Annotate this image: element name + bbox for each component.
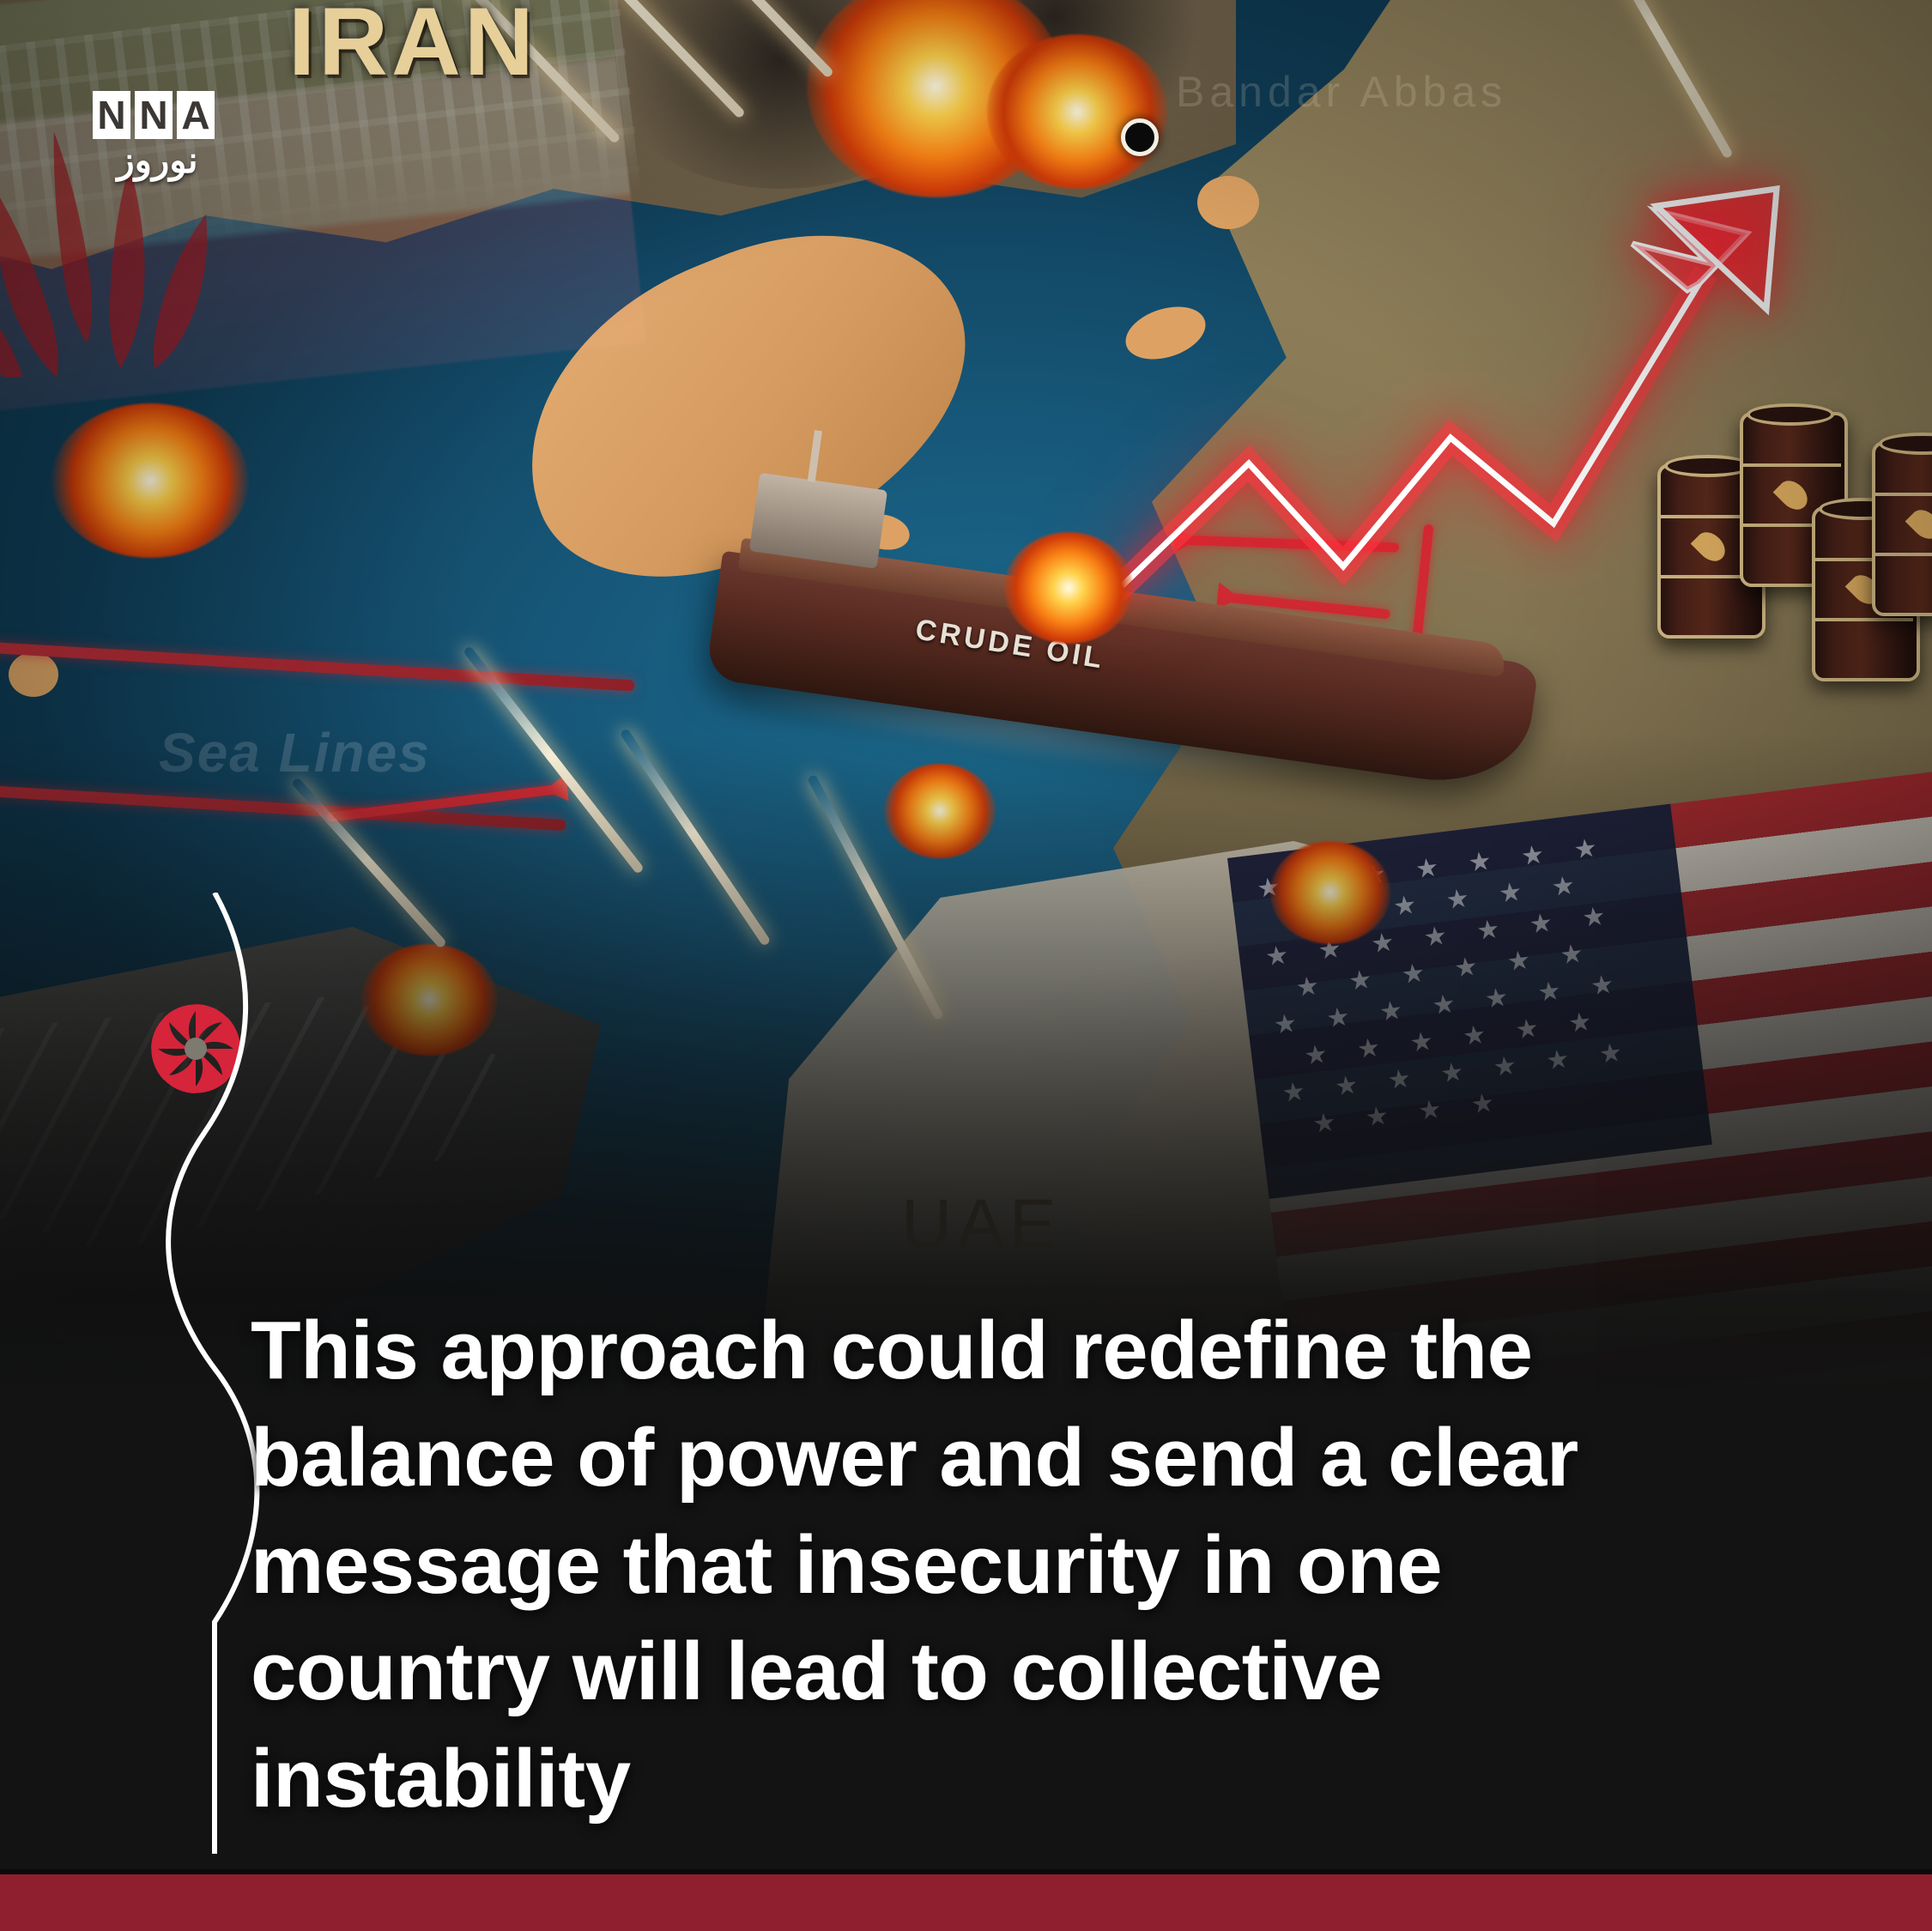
nna-letter-box: A <box>177 91 215 139</box>
nna-letter-box: N <box>93 91 130 139</box>
hero-artwork: Sea Lines CRUDE OIL ★★ ★★ ★★ ★★ ★★ ★★ <box>0 0 1932 1407</box>
nna-logo[interactable]: N N A نوروز <box>93 91 222 179</box>
map-pin-dot-icon <box>1121 118 1159 156</box>
nna-letter-box: N <box>135 91 173 139</box>
news-graphic-card: Sea Lines CRUDE OIL ★★ ★★ ★★ ★★ ★★ ★★ <box>0 0 1932 1931</box>
red-spiral-icon <box>144 997 247 1100</box>
bottom-accent-bar <box>0 1874 1932 1931</box>
nna-logo-letters: N N A <box>93 91 222 139</box>
artwork-vignette <box>0 0 1932 1407</box>
headline-text: This approach could redefine the balance… <box>251 1298 1641 1833</box>
nna-logo-subtitle: نوروز <box>93 142 222 179</box>
